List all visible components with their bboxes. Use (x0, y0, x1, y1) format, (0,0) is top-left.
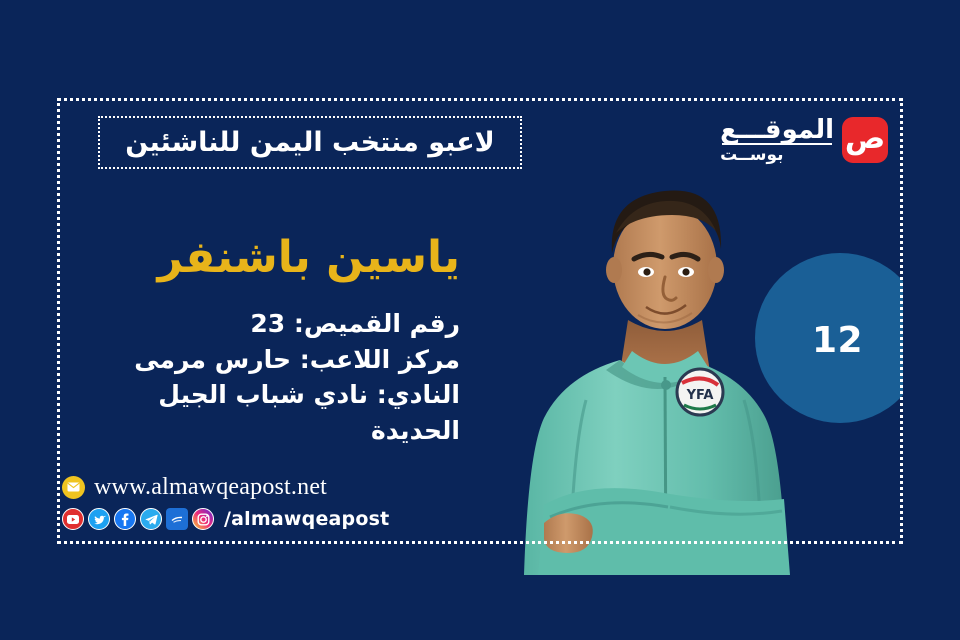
player-name: ياسين باشنفر (158, 234, 461, 282)
instagram-icon[interactable] (192, 508, 214, 530)
player-details: رقم القميص: 23 مركز اللاعب: حارس مرمى ال… (100, 306, 460, 448)
detail-club: النادي: نادي شباب الجيل الحديدة (100, 377, 460, 448)
detail-position: مركز اللاعب: حارس مرمى (100, 342, 460, 378)
yfa-badge: YFA (677, 369, 723, 415)
jersey-number-value: 12 (812, 320, 863, 361)
footer: www.almawqeapost.net (62, 472, 389, 532)
website-url[interactable]: www.almawqeapost.net (94, 474, 327, 501)
logo-mark-glyph: ص (845, 124, 885, 154)
logo-word-top: الموقـــع (720, 117, 834, 143)
telegram-icon[interactable] (140, 508, 162, 530)
player-profile-card: YFA (0, 0, 960, 640)
envelope-icon (62, 476, 85, 499)
logo-word-bottom: بوســت (720, 147, 783, 164)
snapchat-icon[interactable] (166, 508, 188, 530)
social-links-row[interactable]: /almawqeapost (62, 506, 389, 532)
twitter-icon[interactable] (88, 508, 110, 530)
social-handle[interactable]: /almawqeapost (224, 508, 389, 530)
logo-mark-icon: ص (842, 117, 888, 163)
site-logo[interactable]: الموقـــع بوســت ص (720, 112, 888, 168)
logo-wordmark: الموقـــع بوســت (720, 117, 834, 164)
youtube-icon[interactable] (62, 508, 84, 530)
header-title-box: لاعبو منتخب اليمن للناشئين (98, 116, 522, 169)
svg-text:YFA: YFA (686, 388, 714, 403)
detail-shirt-number: رقم القميص: 23 (100, 306, 460, 342)
header-title: لاعبو منتخب اليمن للناشئين (125, 129, 495, 156)
facebook-icon[interactable] (114, 508, 136, 530)
player-photo: YFA (520, 155, 810, 575)
website-row[interactable]: www.almawqeapost.net (62, 472, 389, 502)
